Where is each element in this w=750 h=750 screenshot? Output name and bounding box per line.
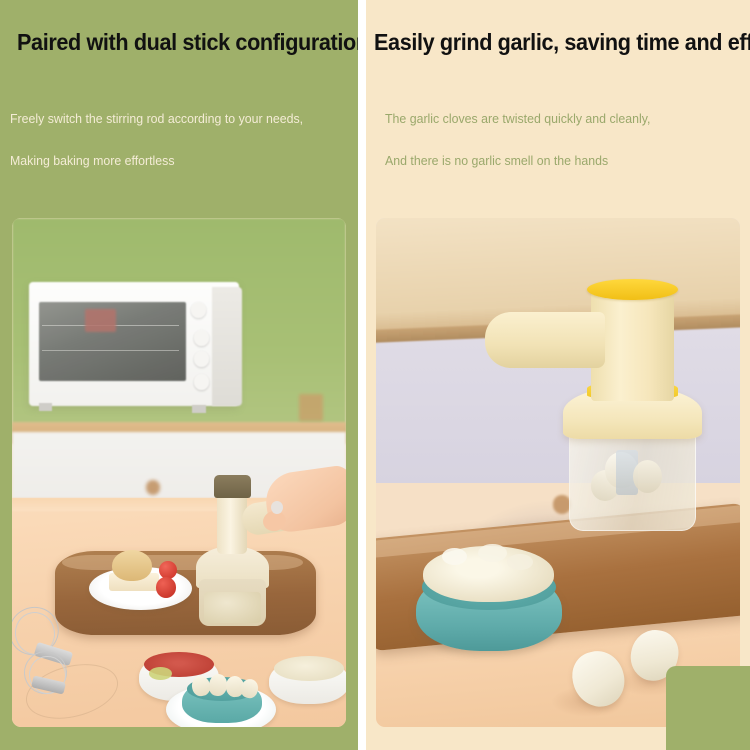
fingernail <box>271 501 283 514</box>
toaster-oven-side <box>212 287 242 407</box>
left-headline: Paired with dual stick configuration <box>17 28 358 56</box>
wall-knob <box>146 480 161 495</box>
garlic-clove-in-bowl <box>633 460 662 493</box>
oven-foot <box>39 403 52 411</box>
left-subline-2: Making baking more effortless <box>10 152 175 169</box>
oven-rack <box>42 350 179 351</box>
panel-left-dual-stick: Paired with dual stick configuration Fre… <box>0 0 358 750</box>
left-product-photo <box>12 218 346 727</box>
background-jar <box>299 394 322 421</box>
right-subline-1: The garlic cloves are twisted quickly an… <box>385 110 650 127</box>
right-subline-2: And there is no garlic smell on the hand… <box>385 152 608 169</box>
chopper-top-cap <box>214 475 251 498</box>
panel-right-grind-garlic: Easily grind garlic, saving time and eff… <box>366 0 750 750</box>
left-subline-1: Freely switch the stirring rod according… <box>10 110 303 127</box>
right-product-photo <box>376 218 740 727</box>
chopper-handle <box>485 312 605 368</box>
minced-garlic-texture <box>478 544 507 562</box>
oven-knob <box>194 330 209 346</box>
minced-garlic <box>274 656 344 681</box>
cherry-tomato <box>156 577 176 597</box>
minced-garlic-texture <box>442 548 467 565</box>
oven-foot <box>192 405 205 413</box>
right-headline: Easily grind garlic, saving time and eff… <box>374 28 750 56</box>
oven-knob <box>194 374 209 390</box>
panel-divider <box>358 0 366 750</box>
bread-roll <box>112 550 152 582</box>
food-inside-oven <box>85 309 115 332</box>
corner-accent <box>666 666 750 750</box>
product-feature-banner: Paired with dual stick configuration Fre… <box>0 0 750 750</box>
minced-garlic-in-jar <box>204 592 261 623</box>
minced-garlic-texture <box>507 554 532 570</box>
